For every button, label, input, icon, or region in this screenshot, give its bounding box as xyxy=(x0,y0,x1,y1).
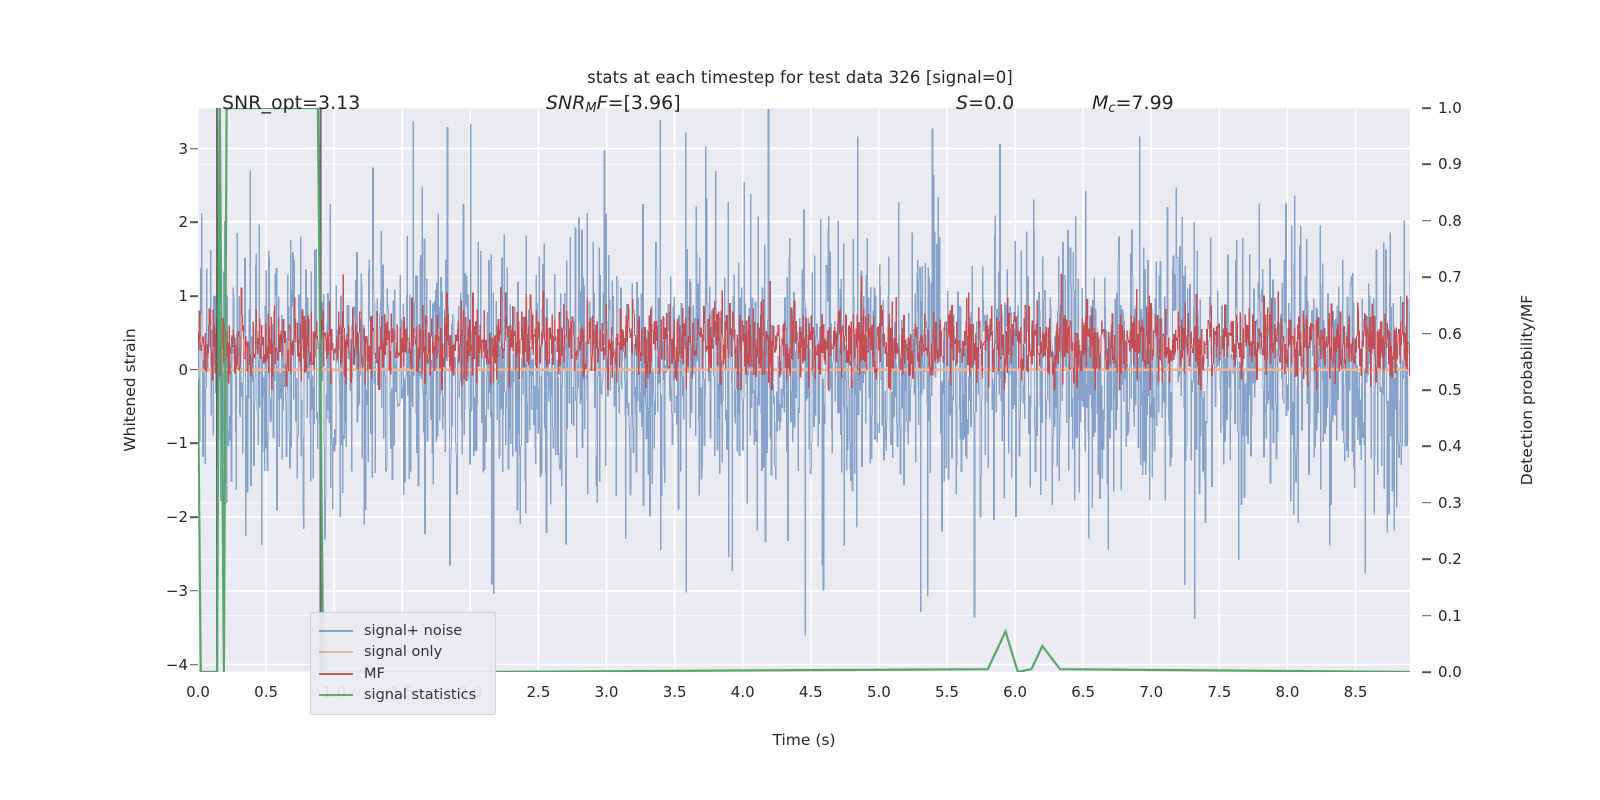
figure: stats at each timestep for test data 326… xyxy=(0,0,1600,800)
y-right-tick-mark xyxy=(1422,276,1431,278)
x-tick-label: 3.0 xyxy=(595,683,619,701)
y-right-tick-label: 0.1 xyxy=(1438,607,1498,625)
y-right-tick-mark xyxy=(1422,671,1431,673)
y-axis-right-label: Detection probability/MF xyxy=(1518,295,1536,485)
y-right-tick-mark xyxy=(1422,446,1431,448)
data-traces xyxy=(198,108,1410,672)
x-tick-label: 4.5 xyxy=(799,683,823,701)
y-right-tick-mark xyxy=(1422,107,1431,109)
legend-swatch-icon xyxy=(319,630,353,632)
legend-swatch-icon xyxy=(319,651,353,653)
y-left-tick-label: 1 xyxy=(128,287,188,305)
legend-item-2[interactable]: MF xyxy=(319,663,487,685)
y-right-tick-label: 0.5 xyxy=(1438,381,1498,399)
annotation-snr-opt: SNR_opt=3.13 xyxy=(222,92,360,114)
y-left-tick-label: −4 xyxy=(128,656,188,674)
y-left-tick-label: −3 xyxy=(128,582,188,600)
y-left-tick-mark xyxy=(190,664,198,666)
legend-label: signal statistics xyxy=(364,687,476,703)
legend-label: signal+ noise xyxy=(364,623,462,639)
x-tick-label: 5.0 xyxy=(867,683,891,701)
y-right-tick-label: 0.7 xyxy=(1438,268,1498,286)
y-right-tick-mark xyxy=(1422,502,1431,504)
y-left-tick-mark xyxy=(190,443,198,445)
y-right-tick-label: 0.8 xyxy=(1438,212,1498,230)
annotation-mchirp: Mc=7.99 xyxy=(1092,92,1174,116)
y-right-tick-mark xyxy=(1422,615,1431,617)
x-tick-label: 2.5 xyxy=(527,683,551,701)
legend-item-3[interactable]: signal statistics xyxy=(319,685,487,707)
x-tick-label: 3.5 xyxy=(663,683,687,701)
x-tick-label: 6.0 xyxy=(1003,683,1027,701)
x-tick-label: 7.5 xyxy=(1207,683,1231,701)
y-left-tick-mark xyxy=(190,295,198,297)
y-right-tick-label: 0.9 xyxy=(1438,155,1498,173)
y-left-tick-mark xyxy=(190,148,198,150)
x-axis-label: Time (s) xyxy=(772,731,835,749)
y-right-tick-label: 0.6 xyxy=(1438,325,1498,343)
y-axis-left-label: Whitened strain xyxy=(121,328,139,451)
legend-item-1[interactable]: signal only xyxy=(319,642,487,664)
y-right-tick-label: 0.4 xyxy=(1438,437,1498,455)
y-right-tick-mark xyxy=(1422,389,1431,391)
y-left-tick-label: 3 xyxy=(128,140,188,158)
y-right-tick-mark xyxy=(1422,333,1431,335)
y-left-tick-label: 2 xyxy=(128,213,188,231)
legend-swatch-icon xyxy=(319,694,353,696)
legend-item-0[interactable]: signal+ noise xyxy=(319,620,487,642)
x-tick-label: 0.0 xyxy=(186,683,210,701)
y-right-tick-label: 1.0 xyxy=(1438,99,1498,117)
legend-label: signal only xyxy=(364,644,442,660)
x-tick-label: 5.5 xyxy=(935,683,959,701)
plot-area[interactable] xyxy=(198,108,1410,672)
annotation-s-stat: S=0.0 xyxy=(956,92,1014,114)
y-right-tick-label: 0.2 xyxy=(1438,550,1498,568)
y-right-tick-label: 0.3 xyxy=(1438,494,1498,512)
y-right-tick-mark xyxy=(1422,220,1431,222)
y-right-tick-mark xyxy=(1422,558,1431,560)
x-tick-label: 0.5 xyxy=(254,683,278,701)
legend-swatch-icon xyxy=(319,673,353,675)
y-left-tick-label: −2 xyxy=(128,508,188,526)
annotation-snr-mf: SNRMF=[3.96] xyxy=(546,92,681,116)
y-left-tick-mark xyxy=(190,221,198,223)
y-left-tick-mark xyxy=(190,516,198,518)
chart-title: stats at each timestep for test data 326… xyxy=(0,68,1600,87)
y-left-tick-mark xyxy=(190,369,198,371)
x-tick-label: 7.0 xyxy=(1139,683,1163,701)
legend-label: MF xyxy=(364,666,385,682)
x-tick-label: 8.5 xyxy=(1344,683,1368,701)
y-left-tick-mark xyxy=(190,590,198,592)
legend[interactable]: signal+ noisesignal onlyMFsignal statist… xyxy=(310,612,496,715)
x-tick-label: 4.0 xyxy=(731,683,755,701)
y-right-tick-mark xyxy=(1422,164,1431,166)
x-tick-label: 8.0 xyxy=(1276,683,1300,701)
x-tick-label: 6.5 xyxy=(1071,683,1095,701)
y-right-tick-label: 0.0 xyxy=(1438,663,1498,681)
